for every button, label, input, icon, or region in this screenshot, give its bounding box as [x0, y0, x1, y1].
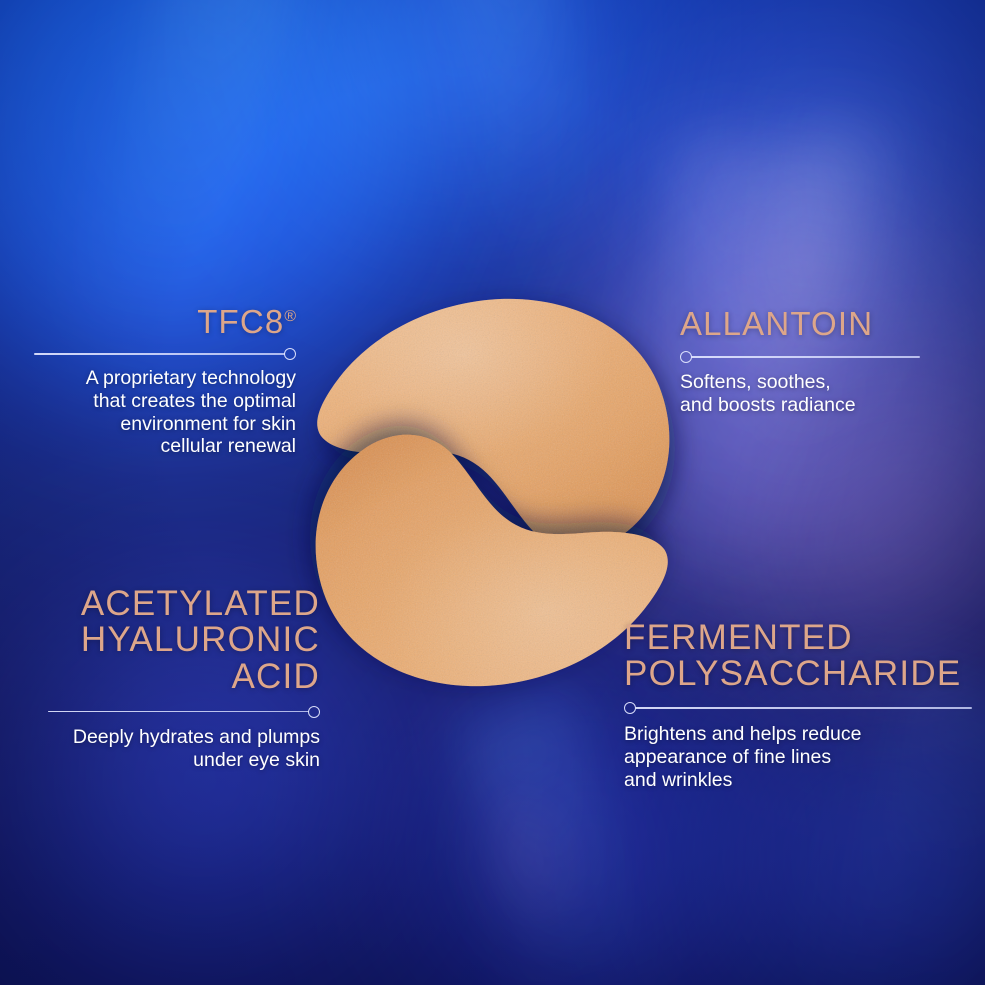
connector-line [635, 707, 972, 709]
connector-dot-icon [308, 706, 320, 718]
ingredient-description-allantoin: Softens, soothes, and boosts radiance [680, 371, 920, 417]
connector-rule-allantoin [680, 350, 920, 363]
connector-line [48, 711, 309, 713]
ingredient-label-acetylated-hyaluronic-acid: ACETYLATED HYALURONIC ACID Deeply hydrat… [48, 586, 320, 772]
eye-patch-pair [0, 0, 985, 985]
connector-dot-icon [284, 348, 296, 360]
registered-trademark-icon: ® [284, 308, 296, 325]
ingredient-heading-tfc8: TFC8® [34, 305, 296, 339]
connector-rule-fermented-polysaccharide [624, 702, 972, 715]
ingredient-label-tfc8: TFC8® A proprietary technology that crea… [34, 305, 296, 458]
ingredient-heading-acetylated-hyaluronic-acid: ACETYLATED HYALURONIC ACID [48, 586, 320, 695]
ingredient-label-fermented-polysaccharide: FERMENTED POLYSACCHARIDE Brightens and h… [624, 620, 972, 792]
ingredient-heading-allantoin: ALLANTOIN [680, 307, 920, 341]
ingredient-heading-fermented-polysaccharide: FERMENTED POLYSACCHARIDE [624, 620, 972, 693]
connector-line [691, 356, 920, 358]
ingredient-description-fermented-polysaccharide: Brightens and helps reduce appearance of… [624, 723, 972, 792]
connector-rule-tfc8 [34, 347, 296, 360]
ingredient-description-acetylated-hyaluronic-acid: Deeply hydrates and plumps under eye ski… [48, 726, 320, 772]
product-ingredient-infographic: TFC8® A proprietary technology that crea… [0, 0, 985, 985]
ingredient-description-tfc8: A proprietary technology that creates th… [34, 367, 296, 457]
ingredient-label-allantoin: ALLANTOIN Softens, soothes, and boosts r… [680, 307, 920, 417]
connector-rule-acetylated-hyaluronic-acid [48, 705, 320, 718]
connector-line [34, 353, 285, 355]
